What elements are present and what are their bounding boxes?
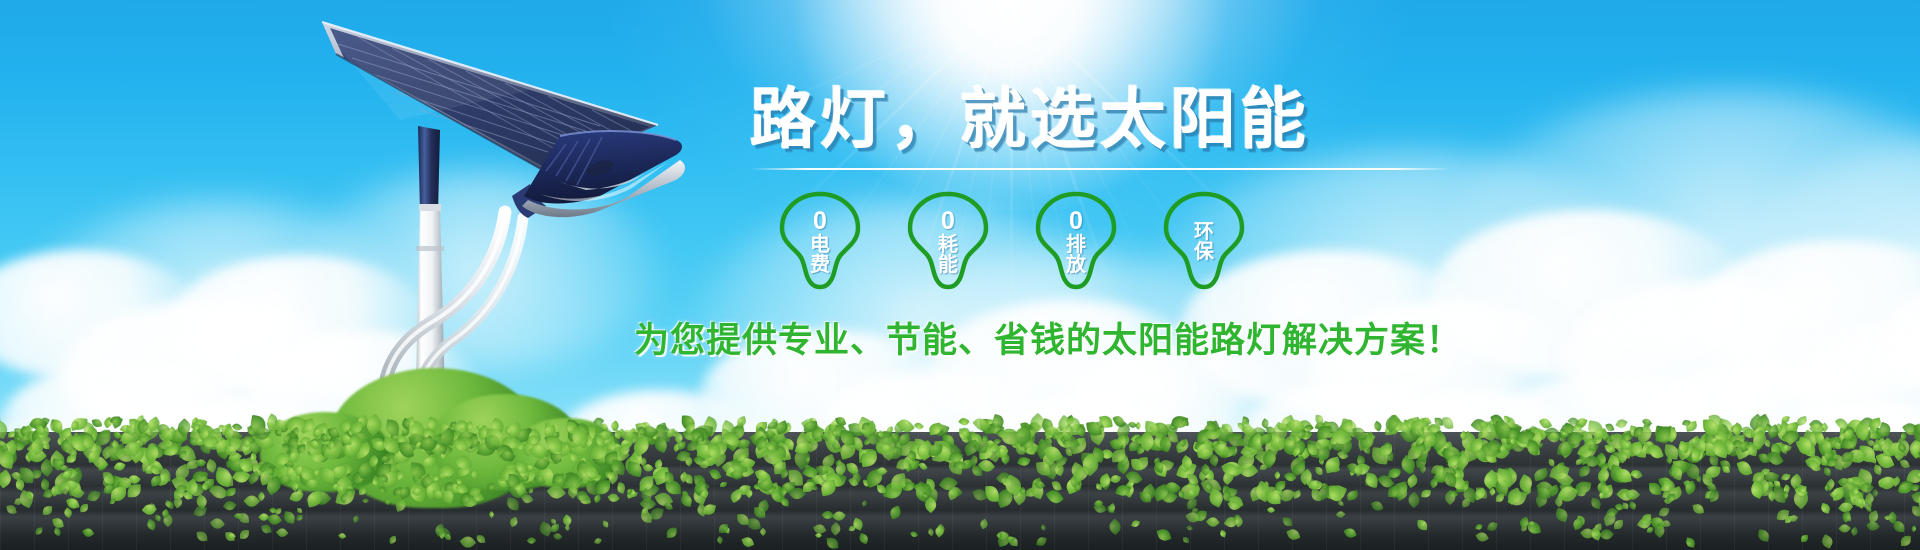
- badge-label-top: 环: [1194, 222, 1214, 242]
- badge-label-bottom: 放: [1066, 255, 1086, 275]
- title-divider: [750, 168, 1450, 170]
- badge-label-bottom: 费: [810, 255, 830, 275]
- tiled-wall: [0, 432, 1920, 550]
- feature-badge: 0电费: [776, 190, 864, 294]
- cloud-haze: [1450, 90, 1920, 390]
- badge-value: 0: [941, 209, 955, 234]
- badge-label-bottom: 保: [1194, 242, 1214, 262]
- cloud: [1690, 240, 1920, 400]
- feature-badge: 0排放: [1032, 190, 1120, 294]
- cloud-haze: [20, 200, 420, 430]
- cloud-haze: [300, 170, 660, 370]
- badge-label-top: 耗: [938, 235, 958, 255]
- cloud: [170, 255, 430, 395]
- cloud: [0, 250, 200, 380]
- solar-panel: [250, 18, 658, 173]
- banner-copy: 路灯，就选太阳能 0电费0耗能0排放环保 为您提供专业、节能、省钱的太阳能路灯解…: [740, 86, 1500, 363]
- feature-badge-list: 0电费0耗能0排放环保: [776, 190, 1500, 294]
- badge-label-top: 电: [810, 235, 830, 255]
- badge-label-top: 排: [1066, 235, 1086, 255]
- badge-value: 0: [813, 209, 827, 234]
- badge-label-bottom: 能: [938, 255, 958, 275]
- cloud-haze: [1750, 140, 1920, 380]
- badge-value: 0: [1069, 209, 1083, 234]
- cloud: [1880, 280, 1920, 400]
- page-title: 路灯，就选太阳能: [750, 86, 1500, 152]
- feature-badge: 0耗能: [904, 190, 992, 294]
- feature-badge: 环保: [1160, 190, 1248, 294]
- led-lamp-head: [512, 131, 685, 218]
- lamp-arm: [384, 212, 523, 440]
- cloud: [1560, 280, 1860, 440]
- solar-street-light-banner: 路灯，就选太阳能 0电费0耗能0排放环保 为您提供专业、节能、省钱的太阳能路灯解…: [0, 0, 1920, 550]
- banner-subtitle: 为您提供专业、节能、省钱的太阳能路灯解决方案！: [634, 312, 1500, 363]
